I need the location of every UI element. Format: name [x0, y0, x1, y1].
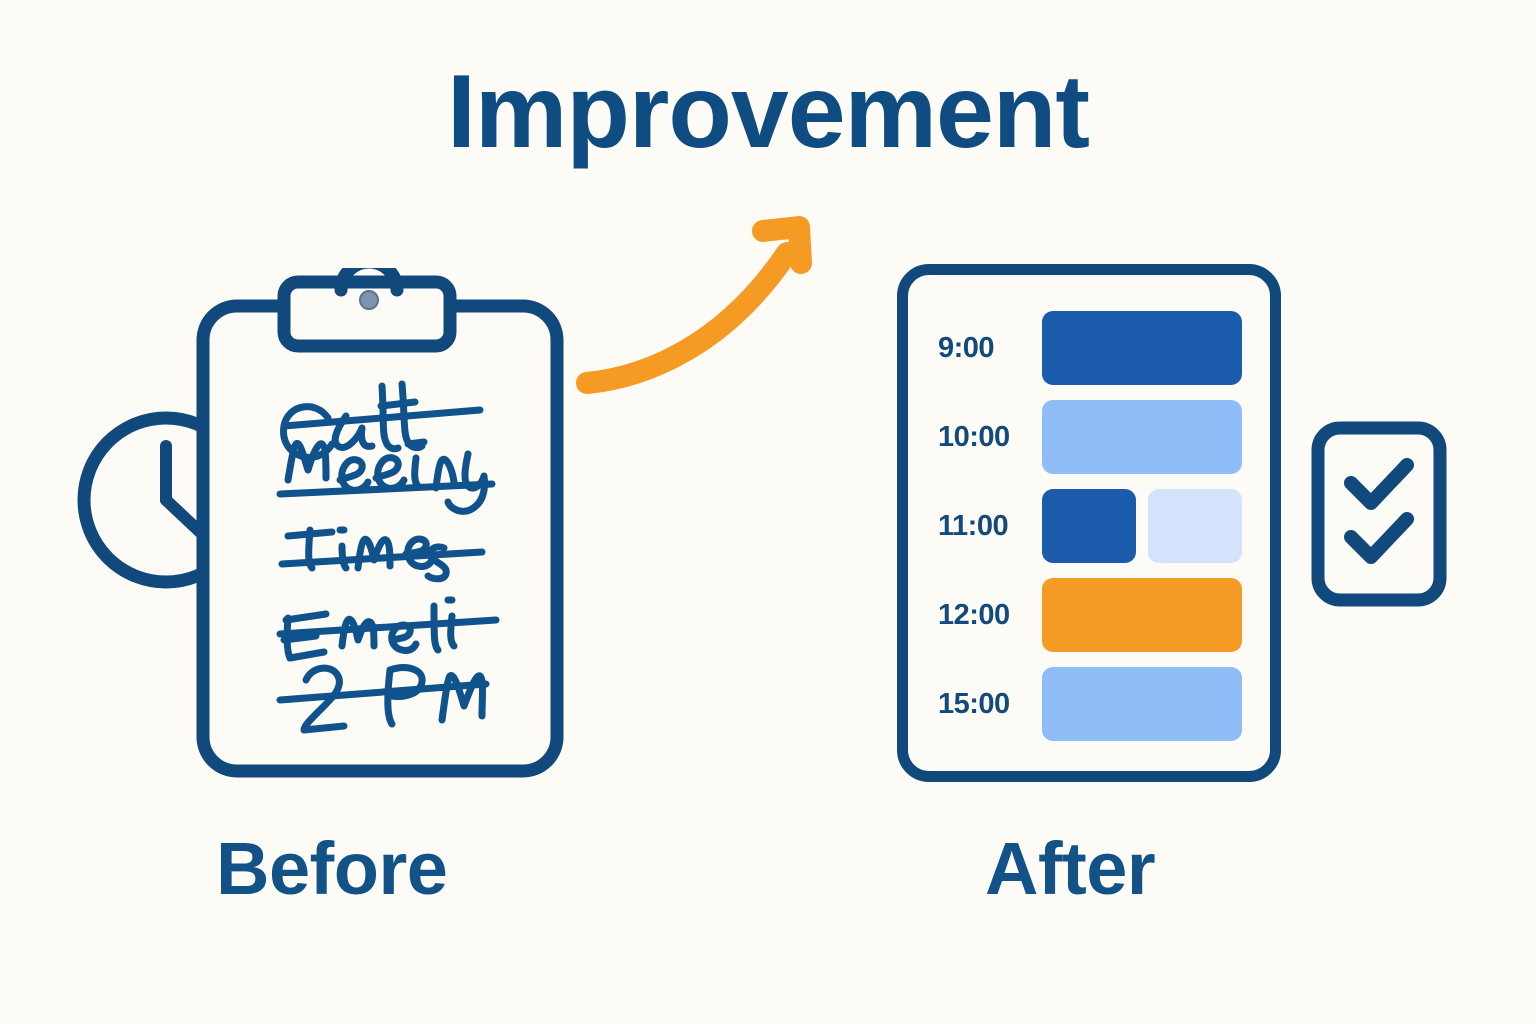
slot-bars [1042, 311, 1242, 385]
caption-after: After [985, 832, 1155, 906]
slot-bars [1042, 578, 1242, 652]
schedule-row[interactable]: 11:00 [938, 489, 1242, 563]
event-block[interactable] [1042, 400, 1242, 474]
schedule-row[interactable]: 10:00 [938, 400, 1242, 474]
slot-bars [1042, 667, 1242, 741]
schedule-card: 9:00 10:00 11:00 12:00 [897, 264, 1281, 782]
schedule-row[interactable]: 12:00 [938, 578, 1242, 652]
event-block[interactable] [1042, 578, 1242, 652]
schedule-list: 9:00 10:00 11:00 12:00 [908, 275, 1270, 771]
page-title: Improvement [0, 58, 1536, 167]
event-block[interactable] [1042, 667, 1242, 741]
clipboard-icon [196, 268, 564, 778]
slot-bars [1042, 489, 1242, 563]
slot-time-label: 10:00 [938, 421, 1042, 454]
event-block[interactable] [1042, 311, 1242, 385]
event-block[interactable] [1148, 489, 1242, 563]
checklist-card-icon [1311, 421, 1447, 607]
slot-time-label: 9:00 [938, 332, 1042, 365]
slot-time-label: 12:00 [938, 599, 1042, 632]
event-block[interactable] [1042, 489, 1136, 563]
illustration-canvas: Improvement [0, 0, 1536, 1024]
slot-bars [1042, 400, 1242, 474]
caption-before: Before [216, 832, 447, 906]
slot-time-label: 15:00 [938, 688, 1042, 721]
schedule-row[interactable]: 15:00 [938, 667, 1242, 741]
curved-up-arrow-icon [575, 205, 860, 405]
slot-time-label: 11:00 [938, 510, 1042, 543]
schedule-row[interactable]: 9:00 [938, 311, 1242, 385]
